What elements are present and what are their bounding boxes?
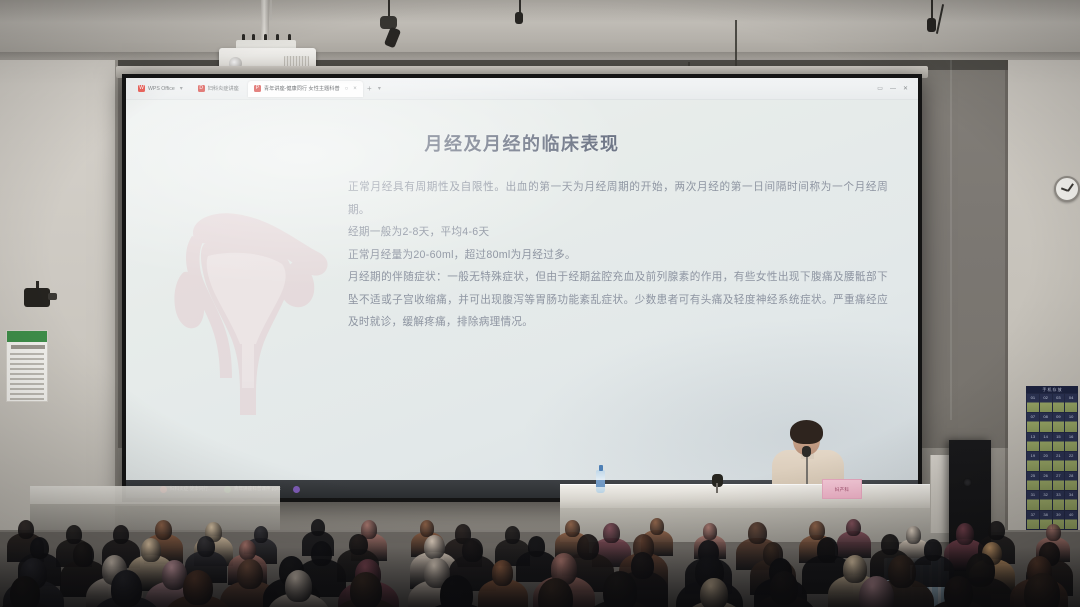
pocket-slot: 19 [1027, 452, 1039, 470]
audience-head [703, 523, 717, 539]
audience-head [700, 578, 727, 607]
search-icon[interactable]: ○ [345, 86, 349, 92]
poster-header [7, 331, 47, 342]
close-icon[interactable]: × [353, 86, 357, 92]
audience-head [631, 552, 654, 579]
audience-head [492, 560, 514, 586]
slide-paragraph-3: 正常月经量为20-60ml，超过80ml为月经过多。 [348, 244, 888, 267]
audience-head [440, 575, 473, 607]
pocket-slot: 01 [1027, 394, 1039, 412]
wall-clock [1054, 176, 1080, 202]
audience-head [577, 534, 599, 560]
audience-head [888, 555, 916, 588]
tab-label: WPS Office [148, 86, 175, 92]
pocket-slot: 07 [1027, 413, 1039, 431]
lecture-hall-scene: 手 机 存 放 01020304070809101314151619202122… [0, 0, 1080, 607]
wall-seam [1005, 60, 1008, 530]
pocket-slot: 14 [1040, 433, 1052, 451]
audience-head [113, 525, 130, 545]
audience-head [650, 518, 664, 535]
wall-seam-secondary [950, 60, 952, 420]
chevron-down-icon[interactable]: ▾ [180, 85, 183, 92]
presentation-icon: P [254, 85, 261, 92]
audience-head [846, 519, 861, 537]
pocket-slot: 04 [1065, 394, 1077, 412]
tab-label: 妇科炎症讲座 [208, 85, 239, 92]
audience-head [155, 520, 172, 540]
uterus-anatomy-illustration [148, 200, 348, 415]
audience-head [18, 520, 34, 539]
audience-head [843, 555, 867, 583]
audience-head [285, 570, 312, 602]
pocket-slot: 13 [1027, 433, 1039, 451]
audience-head [66, 525, 82, 544]
audience-head [183, 570, 213, 605]
pocket-slot: 16 [1065, 433, 1077, 451]
audience-head [197, 536, 215, 557]
slide-title: 月经及月经的临床表现 [126, 130, 918, 156]
audience-head [924, 539, 942, 561]
audience-head [254, 526, 268, 543]
wall-poster [6, 330, 48, 402]
left-wall-panel [0, 60, 118, 530]
audience-head [944, 576, 973, 607]
document-icon: D [198, 85, 205, 92]
tab-label: 青年讲座-健康同行 女性主题科普 [264, 85, 340, 92]
audience [0, 470, 1080, 607]
pocket-slot: 21 [1053, 452, 1065, 470]
tab-list-chevron-icon[interactable]: ▾ [378, 85, 381, 92]
audience-head [817, 537, 839, 563]
slide-body-text: 正常月经具有周期性及自限性。出血的第一天为月经周期的开始，两次月经的第一日间隔时… [348, 176, 888, 334]
audience-head [1046, 524, 1061, 541]
audience-head [505, 526, 520, 544]
close-window-icon[interactable]: ✕ [903, 85, 908, 92]
audience-head [748, 522, 766, 544]
microphone-icon [802, 446, 811, 457]
slide-paragraph-1: 正常月经具有周期性及自限性。出血的第一天为月经周期的开始，两次月经的第一日间隔时… [348, 176, 888, 221]
audience-head [10, 576, 39, 607]
audience-head [528, 536, 546, 557]
audience-head [770, 571, 799, 605]
pocket-slot: 08 [1040, 413, 1052, 431]
wps-logo-icon: W [138, 85, 145, 92]
audience-head [424, 535, 445, 559]
audience-head [988, 521, 1004, 540]
audience-head [956, 523, 974, 545]
audience-head [349, 534, 367, 556]
audience-head [311, 541, 333, 566]
audience-head [111, 570, 142, 606]
audience-head [420, 520, 434, 537]
app-tab-bar: W WPS Office ▾ D 妇科炎症讲座 P 青年讲座-健康同行 女性主题… [126, 78, 918, 100]
tab-wps-office[interactable]: W WPS Office ▾ [132, 81, 189, 97]
presenter-hair [790, 420, 823, 444]
poster-title-bar [11, 345, 45, 349]
audience-head [350, 572, 381, 607]
minimize-icon[interactable]: — [890, 86, 896, 92]
audience-head [141, 538, 161, 562]
audience-head [966, 553, 995, 587]
audience-head [565, 520, 580, 537]
slide-paragraph-2: 经期一般为2-8天，平均4-6天 [348, 221, 888, 244]
pocket-slot: 22 [1065, 452, 1077, 470]
new-tab-icon[interactable]: + [366, 85, 373, 92]
window-controls: ▭ — ✕ [877, 85, 912, 92]
audience-head [239, 540, 256, 560]
audience-head [237, 559, 263, 589]
audience-head [881, 534, 899, 555]
poster-text-lines [10, 353, 44, 403]
audience-head [462, 538, 482, 562]
slide-paragraph-4: 月经期的伴随症状：一般无特殊症状，但由于经期盆腔充血及前列腺素的作用，有些女性出… [348, 266, 888, 334]
pocket-slot: 02 [1040, 394, 1052, 412]
pocket-slot: 15 [1053, 433, 1065, 451]
audience-head [603, 523, 620, 543]
pocket-slot: 10 [1065, 413, 1077, 431]
audience-head [30, 537, 49, 559]
security-camera-icon [24, 288, 50, 307]
tab-presentation-active[interactable]: P 青年讲座-健康同行 女性主题科普 ○ × [248, 81, 363, 97]
pocket-slot: 03 [1053, 394, 1065, 412]
audience-head [311, 519, 325, 536]
ceiling-wire [270, 0, 272, 20]
audience-head [603, 571, 637, 607]
pocket-slot: 20 [1040, 452, 1052, 470]
audience-head [906, 526, 921, 544]
audience-head [73, 542, 94, 567]
restore-icon[interactable]: ▭ [877, 85, 883, 92]
tab-document[interactable]: D 妇科炎症讲座 [192, 81, 245, 97]
pocket-slot: 09 [1053, 413, 1065, 431]
